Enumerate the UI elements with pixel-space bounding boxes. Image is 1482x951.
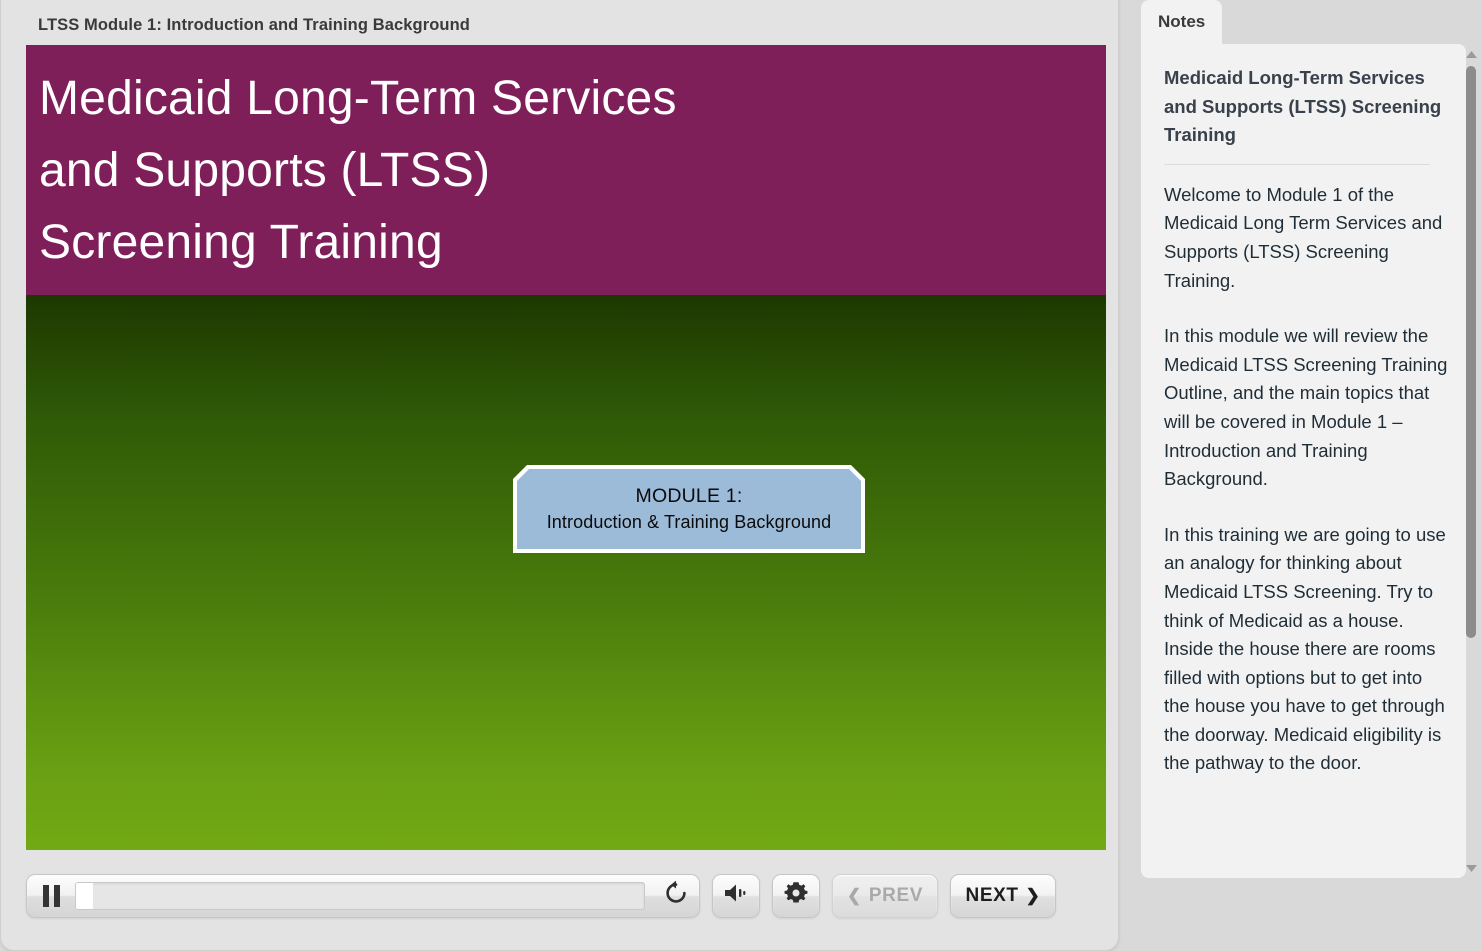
- notes-divider: [1164, 164, 1430, 165]
- notes-paragraph: Welcome to Module 1 of the Medicaid Long…: [1164, 181, 1452, 295]
- volume-button[interactable]: [712, 874, 760, 918]
- slide-title: Medicaid Long-Term Services and Supports…: [39, 63, 1086, 279]
- tab-notes[interactable]: Notes: [1141, 0, 1222, 44]
- chevron-right-icon: ❯: [1026, 887, 1041, 904]
- pause-icon-bar-left: [43, 885, 49, 907]
- player-frame: LTSS Module 1: Introduction and Training…: [0, 0, 1119, 951]
- module-callout-line-1: MODULE 1:: [636, 483, 743, 509]
- notes-tab-bar: Notes: [1133, 0, 1482, 44]
- seek-group: [26, 874, 700, 918]
- replay-icon: [662, 879, 690, 912]
- module-callout-inner: MODULE 1: Introduction & Training Backgr…: [517, 469, 861, 549]
- tab-notes-label: Notes: [1158, 12, 1205, 32]
- module-callout-box: MODULE 1: Introduction & Training Backgr…: [513, 465, 865, 553]
- seek-progress-fill: [76, 883, 93, 909]
- chevron-left-icon: ❮: [847, 887, 862, 904]
- notes-body: Medicaid Long-Term Services and Supports…: [1141, 44, 1466, 878]
- scroll-down-arrow-icon[interactable]: [1464, 862, 1478, 874]
- scrollbar-thumb[interactable]: [1466, 66, 1476, 638]
- settings-button[interactable]: [772, 874, 820, 918]
- gear-icon: [783, 880, 809, 911]
- slide-title-line-3: Screening Training: [39, 207, 1086, 279]
- slide-title-line-2: and Supports (LTSS): [39, 135, 1086, 207]
- module-callout-line-2: Introduction & Training Background: [547, 509, 832, 535]
- volume-icon: [723, 881, 749, 910]
- elearning-player: LTSS Module 1: Introduction and Training…: [0, 0, 1482, 951]
- slide-body-gradient: [26, 295, 1106, 850]
- notes-paragraph: In this training we are going to use an …: [1164, 521, 1452, 778]
- notes-scrollbar[interactable]: [1463, 44, 1479, 878]
- next-button[interactable]: NEXT ❯: [950, 874, 1056, 918]
- player-control-bar: ❮ PREV NEXT ❯: [26, 870, 1098, 921]
- prev-button-label: PREV: [869, 885, 923, 907]
- scroll-up-arrow-icon[interactable]: [1464, 48, 1478, 60]
- slide-title-line-1: Medicaid Long-Term Services: [39, 63, 1086, 135]
- notes-panel: Notes Medicaid Long-Term Services and Su…: [1133, 0, 1482, 933]
- seek-slider[interactable]: [75, 882, 645, 910]
- notes-paragraph: In this module we will review the Medica…: [1164, 322, 1452, 494]
- page-title: LTSS Module 1: Introduction and Training…: [38, 16, 470, 35]
- pause-icon-bar-right: [54, 885, 60, 907]
- replay-button[interactable]: [653, 875, 699, 917]
- prev-button[interactable]: ❮ PREV: [832, 874, 938, 918]
- notes-heading: Medicaid Long-Term Services and Supports…: [1164, 64, 1452, 150]
- pause-button[interactable]: [27, 875, 75, 917]
- slide-title-band: Medicaid Long-Term Services and Supports…: [26, 45, 1106, 295]
- notes-content: Medicaid Long-Term Services and Supports…: [1164, 64, 1452, 778]
- slide-stage: Medicaid Long-Term Services and Supports…: [26, 45, 1106, 850]
- next-button-label: NEXT: [966, 885, 1019, 907]
